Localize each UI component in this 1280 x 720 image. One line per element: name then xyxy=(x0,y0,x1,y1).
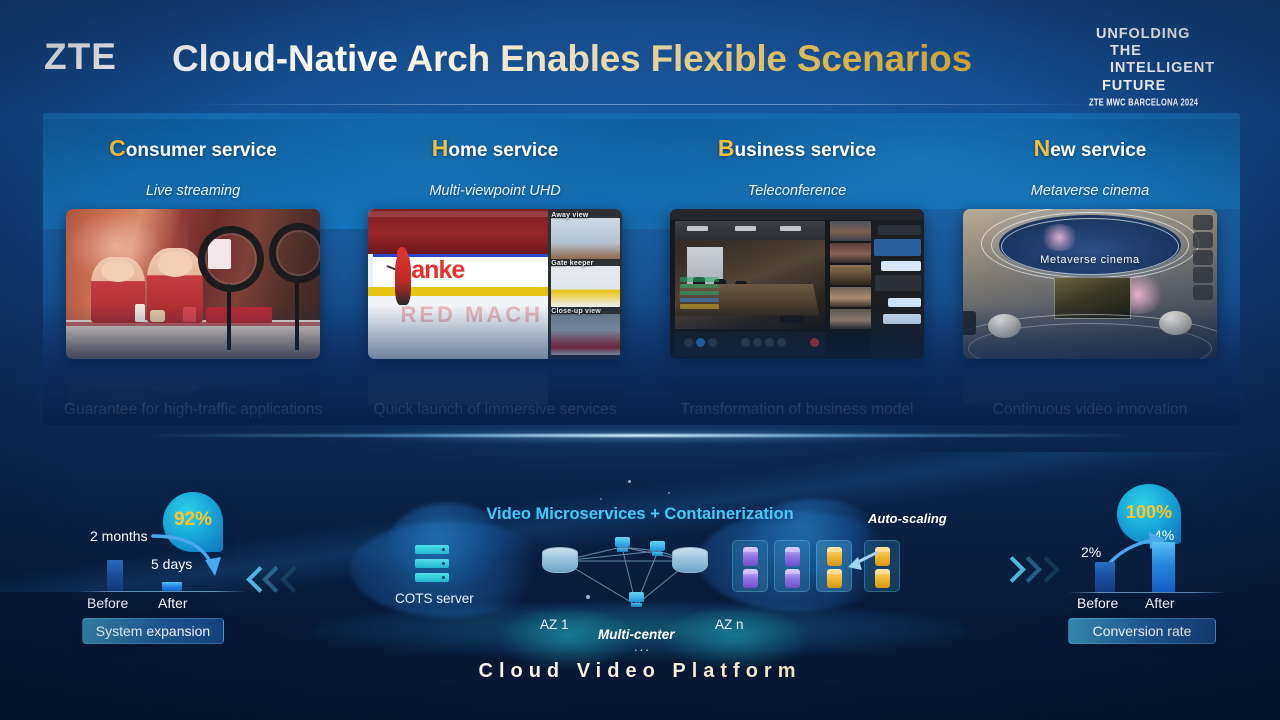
vignette-overlay xyxy=(0,0,1280,720)
slide-root: ZTE Cloud-Native Arch Enables Flexible S… xyxy=(0,0,1280,720)
